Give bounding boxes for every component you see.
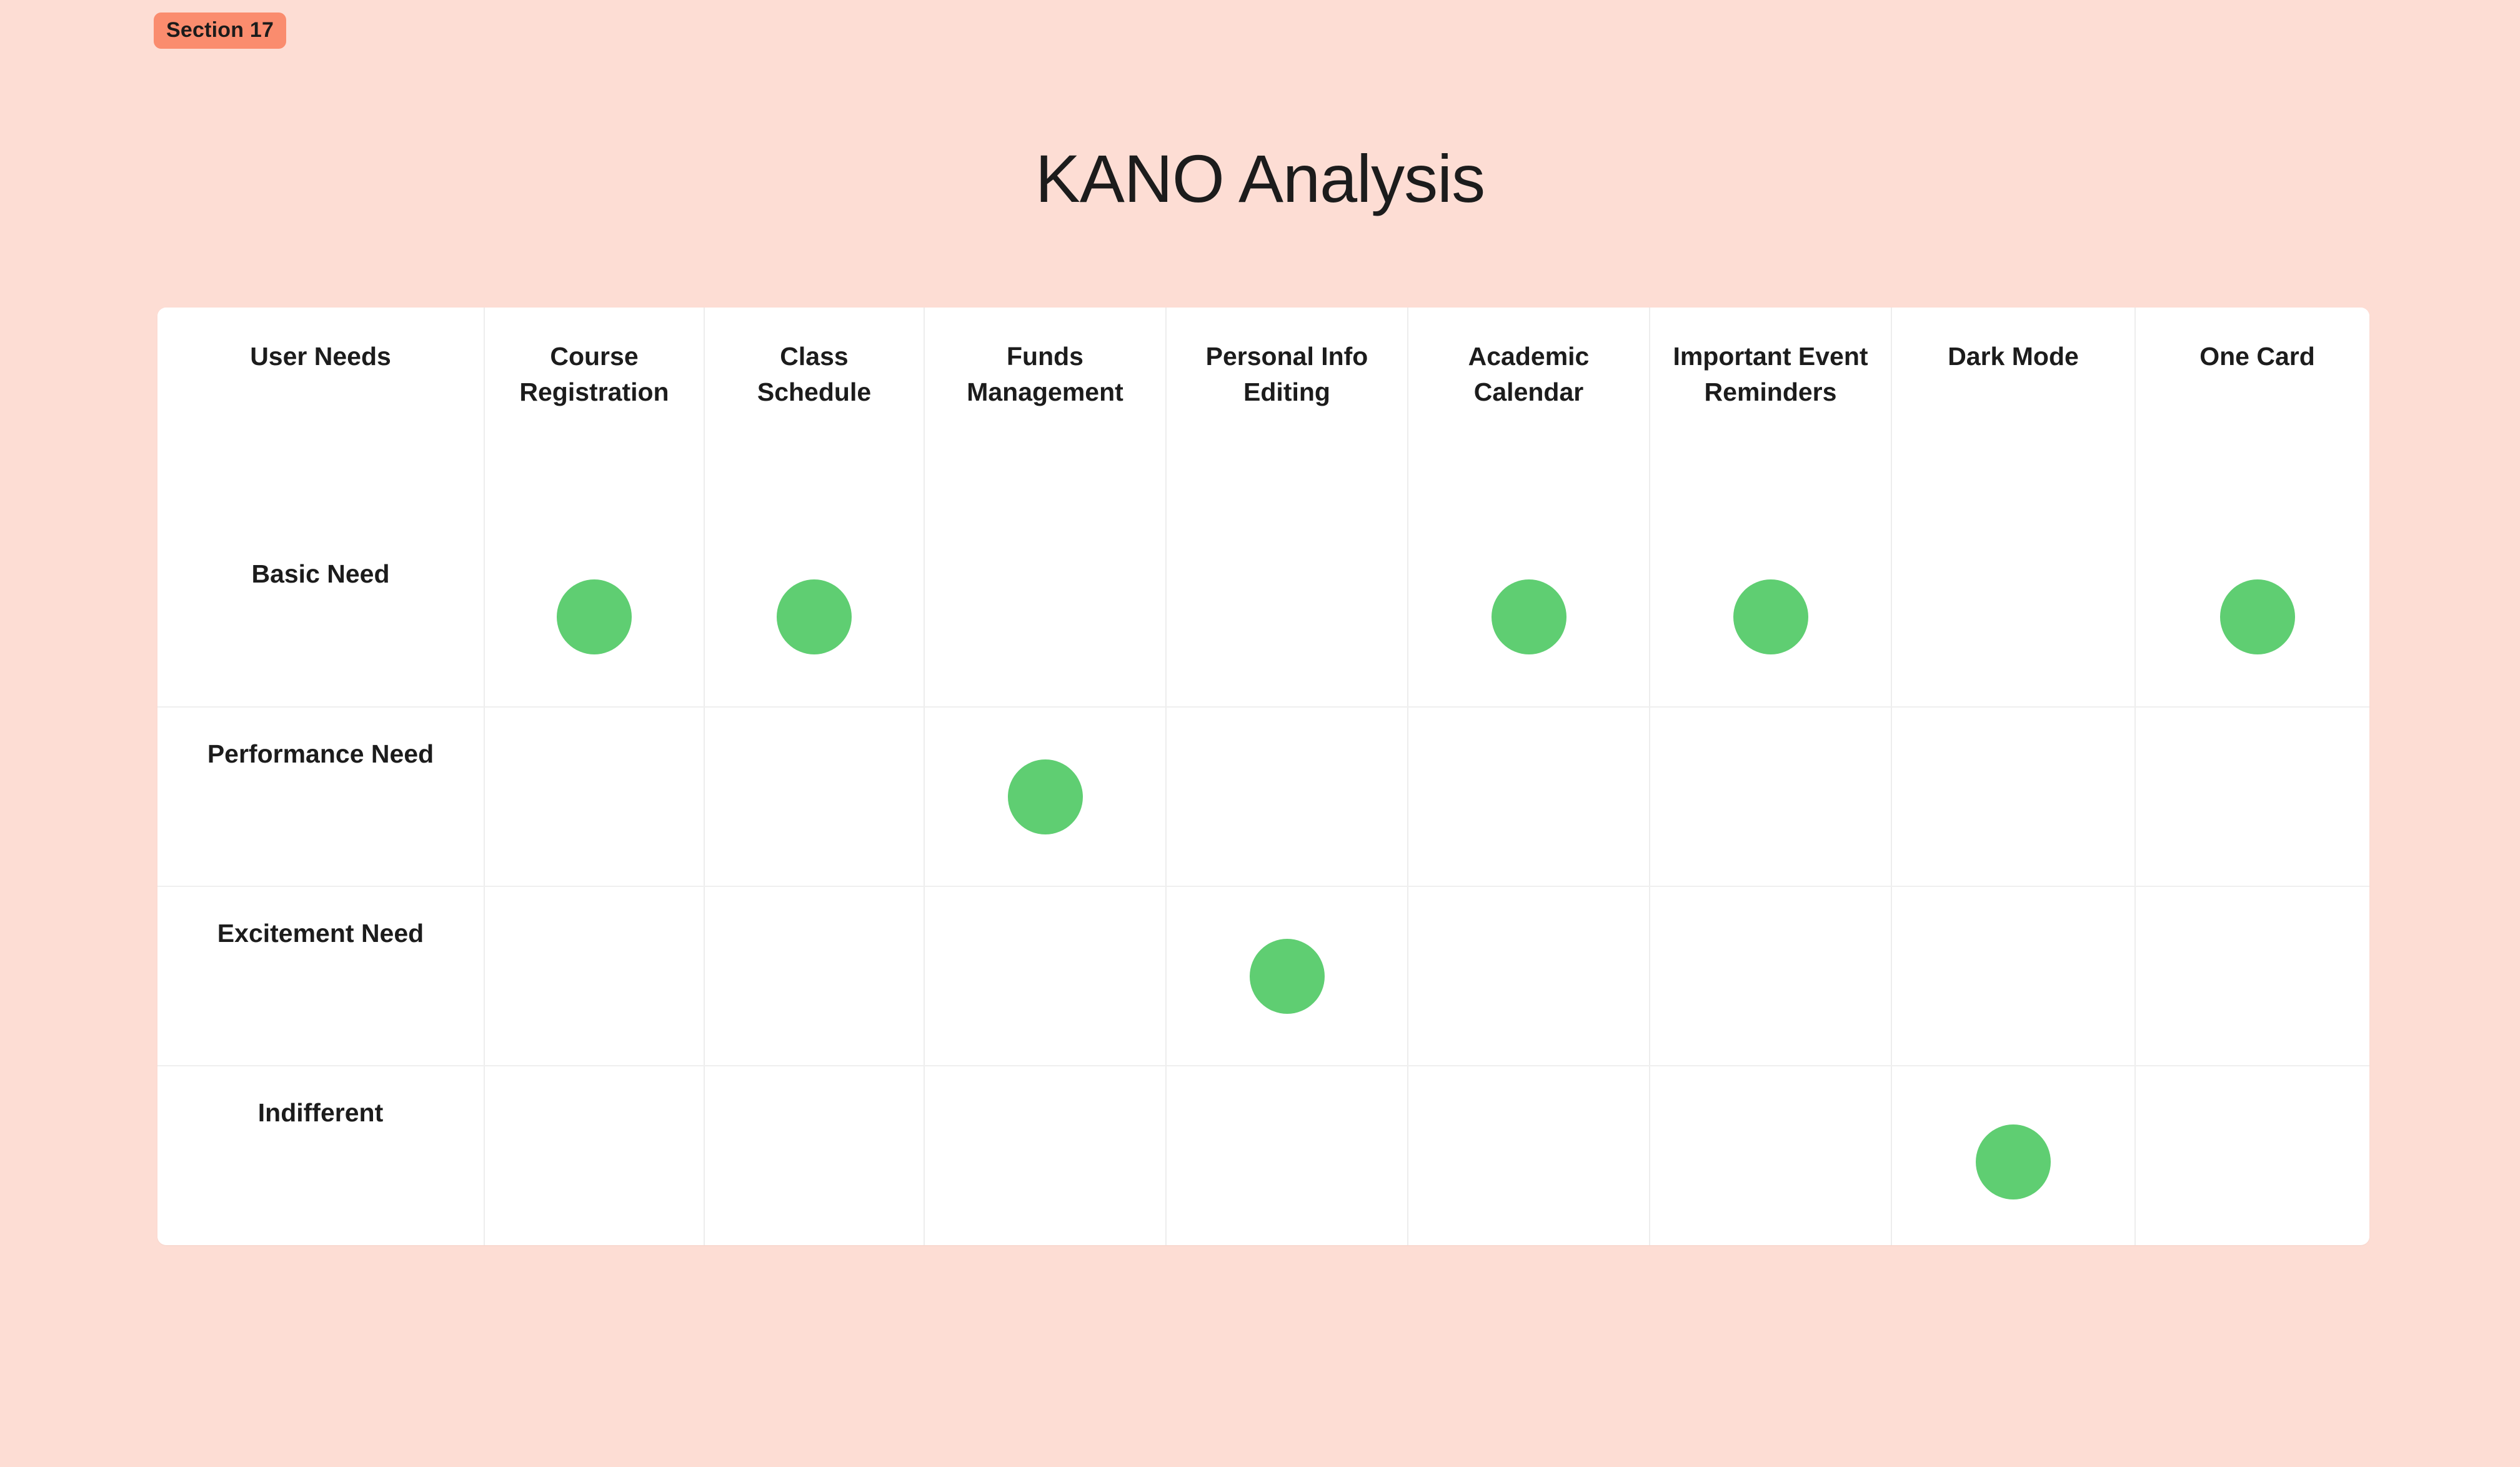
cell-excitement-need-one-card [2135, 886, 2369, 1066]
cell-basic-need-personal-info-editing [1166, 528, 1408, 707]
dot-slot [1167, 528, 1407, 706]
cell-performance-need-class-schedule [704, 707, 924, 886]
row-header-basic-need: Basic Need [157, 528, 484, 707]
dot-slot [1892, 528, 2134, 706]
dot-slot [2136, 887, 2369, 1065]
row-header-label: Performance Need [157, 708, 484, 771]
dot-slot [1408, 528, 1649, 706]
column-header-label: Funds Management [925, 308, 1165, 409]
row-header-performance-need: Performance Need [157, 707, 484, 886]
dot-slot [705, 887, 924, 1065]
cell-indifferent-class-schedule [704, 1066, 924, 1245]
row-header-label: Basic Need [157, 528, 484, 591]
green-dot-icon [2220, 579, 2295, 654]
cell-basic-need-funds-management [924, 528, 1166, 707]
column-header-label: Academic Calendar [1408, 308, 1649, 409]
dot-slot [705, 528, 924, 706]
column-header-dark-mode: Dark Mode [1891, 308, 2135, 528]
cell-basic-need-dark-mode [1891, 528, 2135, 707]
green-dot-icon [1976, 1124, 2051, 1199]
cell-excitement-need-academic-calendar [1408, 886, 1650, 1066]
column-header-label: User Needs [157, 308, 484, 374]
dot-slot [1167, 887, 1407, 1065]
column-header-funds-management: Funds Management [924, 308, 1166, 528]
cell-excitement-need-funds-management [924, 886, 1166, 1066]
cell-indifferent-academic-calendar [1408, 1066, 1650, 1245]
green-dot-icon [557, 579, 632, 654]
cell-indifferent-course-registration [484, 1066, 704, 1245]
green-dot-icon [1492, 579, 1566, 654]
column-header-course-registration: Course Registration [484, 308, 704, 528]
cell-basic-need-important-event-reminders [1650, 528, 1891, 707]
dot-slot [2136, 708, 2369, 886]
section-badge: Section 17 [154, 13, 286, 49]
dot-slot [485, 528, 704, 706]
green-dot-icon [1250, 939, 1325, 1014]
cell-performance-need-dark-mode [1891, 707, 2135, 886]
row-header-label: Excitement Need [157, 887, 484, 950]
dot-slot [1892, 887, 2134, 1065]
column-header-personal-info-editing: Personal Info Editing [1166, 308, 1408, 528]
green-dot-icon [1008, 759, 1083, 834]
dot-slot [1892, 1066, 2134, 1245]
dot-slot [925, 528, 1165, 706]
dot-slot [2136, 528, 2369, 706]
cell-basic-need-one-card [2135, 528, 2369, 707]
cell-excitement-need-important-event-reminders [1650, 886, 1891, 1066]
dot-slot [485, 887, 704, 1065]
column-header-label: Course Registration [485, 308, 704, 409]
cell-indifferent-personal-info-editing [1166, 1066, 1408, 1245]
row-header-indifferent: Indifferent [157, 1066, 484, 1245]
column-header-class-schedule: Class Schedule [704, 308, 924, 528]
dot-slot [2136, 1066, 2369, 1245]
kano-matrix-table: User Needs Course Registration Class Sch… [157, 308, 2369, 1245]
dot-slot [925, 887, 1165, 1065]
column-header-label: Dark Mode [1892, 308, 2134, 374]
cell-performance-need-funds-management [924, 707, 1166, 886]
table-row: Excitement Need [157, 886, 2369, 1066]
row-header-label: Indifferent [157, 1066, 484, 1129]
green-dot-icon [1733, 579, 1808, 654]
page-title: KANO Analysis [0, 140, 2520, 218]
dot-slot [1892, 708, 2134, 886]
dot-slot [1650, 1066, 1891, 1245]
table-header-row: User Needs Course Registration Class Sch… [157, 308, 2369, 528]
column-header-important-event-reminders: Important Event Reminders [1650, 308, 1891, 528]
dot-slot [1650, 528, 1891, 706]
cell-performance-need-academic-calendar [1408, 707, 1650, 886]
column-header-academic-calendar: Academic Calendar [1408, 308, 1650, 528]
dot-slot [1167, 1066, 1407, 1245]
table-row: Indifferent [157, 1066, 2369, 1245]
dot-slot [925, 1066, 1165, 1245]
cell-excitement-need-course-registration [484, 886, 704, 1066]
cell-performance-need-personal-info-editing [1166, 707, 1408, 886]
table-row: Basic Need [157, 528, 2369, 707]
cell-performance-need-course-registration [484, 707, 704, 886]
dot-slot [1408, 887, 1649, 1065]
cell-indifferent-one-card [2135, 1066, 2369, 1245]
column-header-label: Important Event Reminders [1650, 308, 1891, 409]
dot-slot [925, 708, 1165, 886]
dot-slot [485, 708, 704, 886]
dot-slot [705, 1066, 924, 1245]
cell-excitement-need-dark-mode [1891, 886, 2135, 1066]
column-header-label: Class Schedule [705, 308, 924, 409]
column-header-one-card: One Card [2135, 308, 2369, 528]
dot-slot [1650, 887, 1891, 1065]
row-header-excitement-need: Excitement Need [157, 886, 484, 1066]
cell-performance-need-one-card [2135, 707, 2369, 886]
dot-slot [485, 1066, 704, 1245]
cell-basic-need-academic-calendar [1408, 528, 1650, 707]
dot-slot [705, 708, 924, 886]
dot-slot [1408, 708, 1649, 886]
cell-indifferent-dark-mode [1891, 1066, 2135, 1245]
kano-table: User Needs Course Registration Class Sch… [157, 308, 2369, 1245]
dot-slot [1408, 1066, 1649, 1245]
cell-excitement-need-personal-info-editing [1166, 886, 1408, 1066]
green-dot-icon [777, 579, 852, 654]
cell-indifferent-funds-management [924, 1066, 1166, 1245]
cell-basic-need-course-registration [484, 528, 704, 707]
column-header-label: Personal Info Editing [1167, 308, 1407, 409]
dot-slot [1650, 708, 1891, 886]
cell-performance-need-important-event-reminders [1650, 707, 1891, 886]
column-header-label: One Card [2136, 308, 2369, 374]
cell-basic-need-class-schedule [704, 528, 924, 707]
cell-excitement-need-class-schedule [704, 886, 924, 1066]
cell-indifferent-important-event-reminders [1650, 1066, 1891, 1245]
column-header-user-needs: User Needs [157, 308, 484, 528]
dot-slot [1167, 708, 1407, 886]
table-row: Performance Need [157, 707, 2369, 886]
